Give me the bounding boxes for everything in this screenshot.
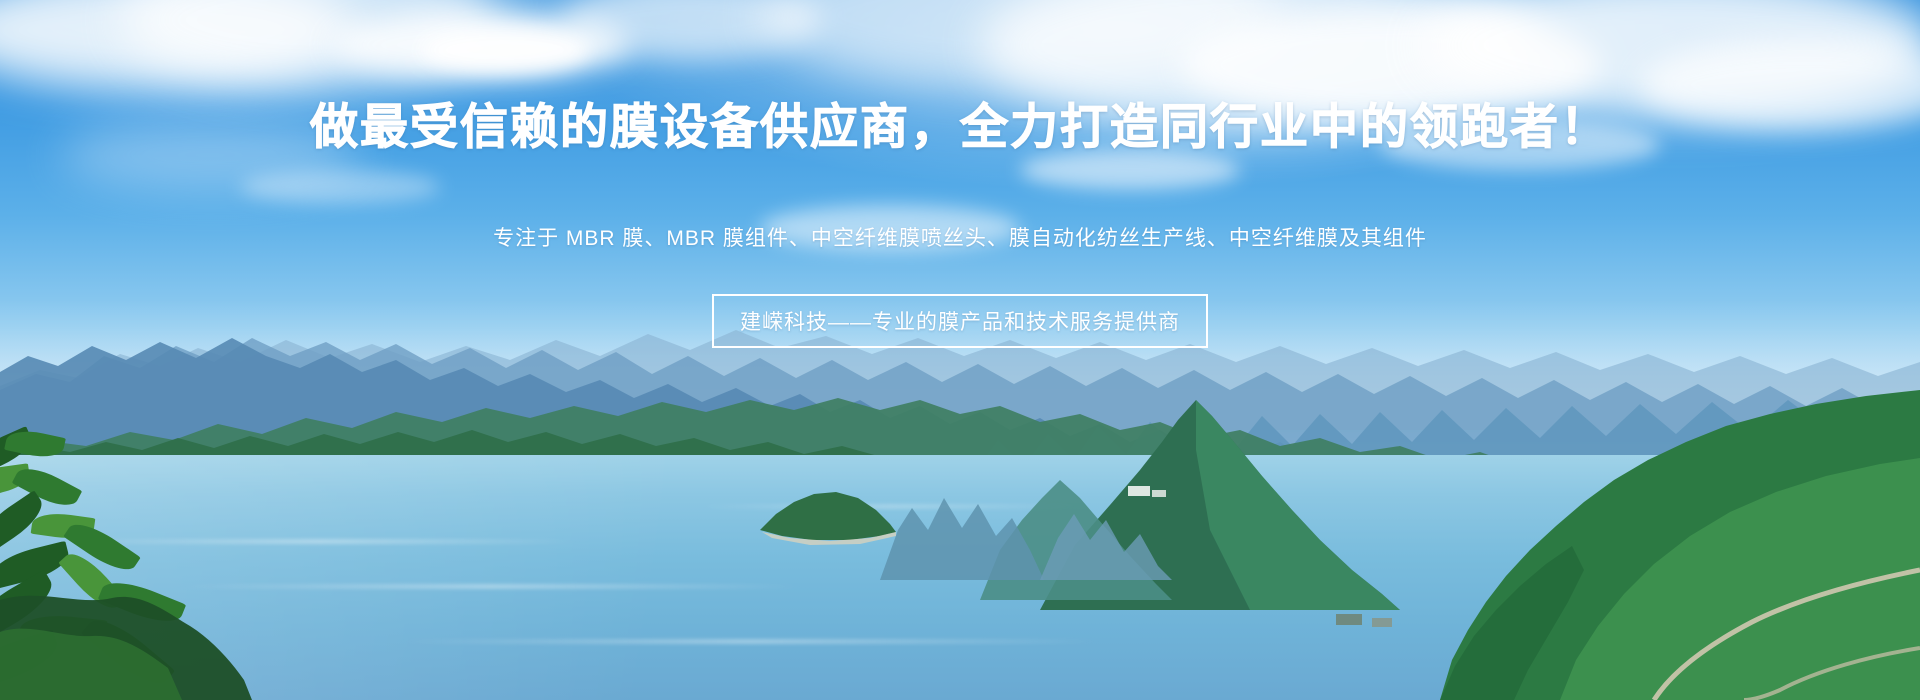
cloud-shape <box>1380 120 1660 170</box>
cloud-shape <box>760 205 1020 251</box>
shore-building <box>1152 490 1166 497</box>
hero-banner: 做最受信赖的膜设备供应商，全力打造同行业中的领跑者！ 专注于 MBR 膜、MBR… <box>0 0 1920 700</box>
cloud-shape <box>60 120 360 190</box>
cloud-shape <box>1020 150 1240 190</box>
foreground-foliage-mass <box>0 560 1920 700</box>
lake-island <box>0 470 1920 560</box>
shore-building <box>1128 486 1150 496</box>
cloud-shape <box>420 28 590 72</box>
